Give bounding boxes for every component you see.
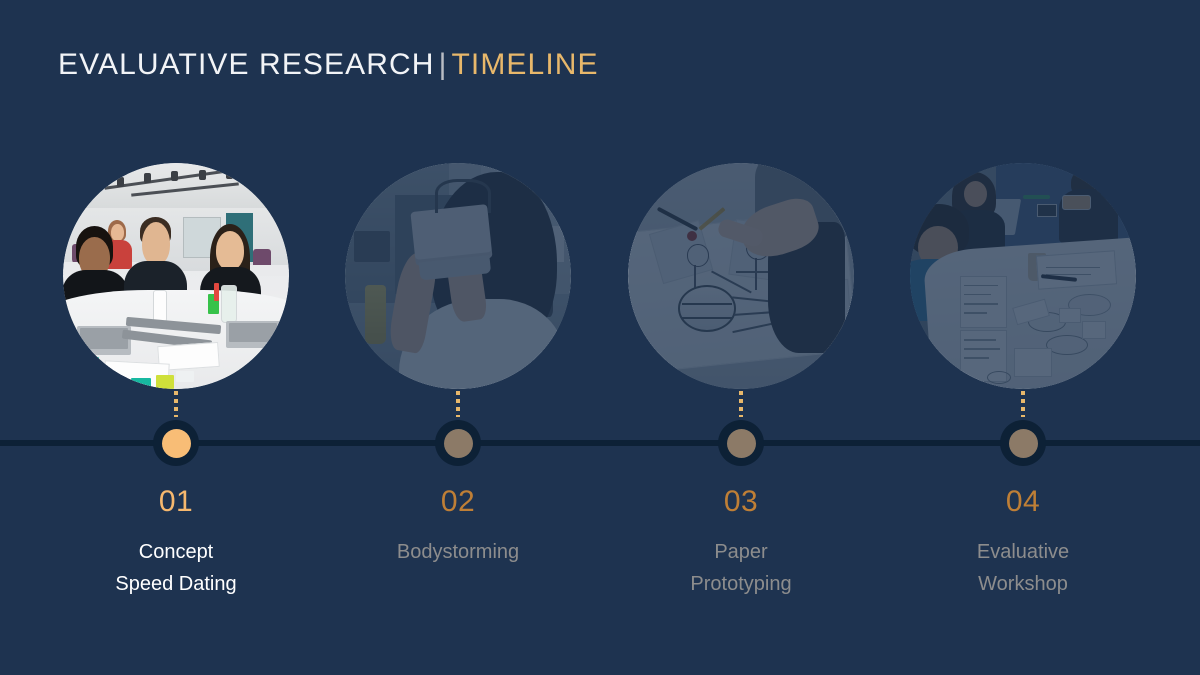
timeline-step-01[interactable]: 01 Concept Speed Dating [35,0,317,675]
connector-dotted-01 [174,391,178,417]
connector-dotted-04 [1021,391,1025,417]
node-dot-03 [727,429,756,458]
timeline-node-02[interactable] [435,420,481,466]
timeline-node-01[interactable] [153,420,199,466]
node-dot-01 [162,429,191,458]
step-number-03: 03 [600,487,882,517]
timeline-step-02[interactable]: 02 Bodystorming [317,0,599,675]
step-label-04: Evaluative Workshop [882,536,1164,600]
step-number-02: 02 [317,487,599,517]
connector-dotted-02 [456,391,460,417]
photo-bodystorming [345,163,571,389]
photo-concept-speed-dating [63,163,289,389]
step-label-01: Concept Speed Dating [35,536,317,600]
node-dot-04 [1009,429,1038,458]
photo-paper-prototyping [628,163,854,389]
step-label-03: Paper Prototyping [600,536,882,600]
timeline-steps: 01 Concept Speed Dating [0,0,1200,675]
node-dot-02 [444,429,473,458]
step-label-02: Bodystorming [317,536,599,568]
timeline-node-03[interactable] [718,420,764,466]
photo-evaluative-workshop [910,163,1136,389]
step-number-01: 01 [35,487,317,517]
timeline-step-04[interactable]: 04 Evaluative Workshop [882,0,1164,675]
step-number-04: 04 [882,487,1164,517]
timeline-step-03[interactable]: 03 Paper Prototyping [600,0,882,675]
connector-dotted-03 [739,391,743,417]
timeline-slide: EVALUATIVE RESEARCH|TIMELINE [0,0,1200,675]
timeline-node-04[interactable] [1000,420,1046,466]
